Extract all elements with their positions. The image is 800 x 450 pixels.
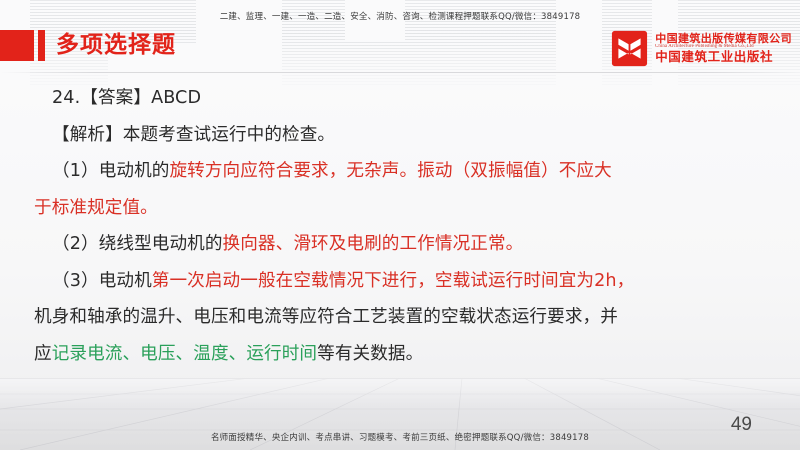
publisher-press-cn: 中国建筑工业出版社 <box>655 50 792 63</box>
answer-value: ABCD <box>151 88 201 108</box>
publisher-logo: 中国建筑出版传媒有限公司 China Architecture Publishi… <box>611 28 792 68</box>
item-3-line-2: 机身和轴承的温升、电压和电流等应符合工艺装置的空载状态运行要求，并 <box>18 299 786 336</box>
item-3-text-lead3: 应 <box>34 344 52 364</box>
item-3-green-highlight: 记录电流、电压、温度、运行时间 <box>52 344 317 364</box>
item-1-lead: 电动机的 <box>99 161 170 181</box>
analysis-line: 【解析】本题考查试运行中的检查。 <box>18 117 786 154</box>
publisher-company-cn: 中国建筑出版传媒有限公司 <box>655 33 792 45</box>
header-divider <box>0 72 800 73</box>
item-2-highlight: 换向器、滑环及电刷的工作情况正常。 <box>223 234 524 254</box>
item-3-text-cont: 机身和轴承的温升、电压和电流等应符合工艺装置的空载状态运行要求，并 <box>34 307 618 327</box>
title-red-bar-icon <box>38 30 45 61</box>
publisher-company-en: China Architecture Publishing & Media Co… <box>655 44 789 49</box>
page-number: 49 <box>731 414 752 436</box>
answer-label: 【答案】 <box>80 88 151 108</box>
analysis-label: 【解析】 <box>52 125 123 145</box>
footer-contact-line: 名师面授精华、央企内训、考点串讲、习题模考、考前三页纸、绝密押题联系QQ/微信：… <box>0 431 800 443</box>
top-contact-line: 二建、监理、一建、一造、二造、安全、消防、咨询、检测课程押题联系QQ/微信：38… <box>0 10 800 22</box>
analysis-text: 本题考查试运行中的检查。 <box>123 125 335 145</box>
item-3-text-tail3: 等有关数据。 <box>317 344 423 364</box>
publisher-logo-icon <box>611 30 648 67</box>
item-2-line-1: （2）绕线型电动机的换向器、滑环及电刷的工作情况正常。 <box>18 226 786 263</box>
item-3-line-1: （3）电动机第一次启动一般在空载情况下进行，空载试运行时间宜为2h， <box>18 263 786 300</box>
answer-number: 24. <box>52 88 80 108</box>
section-title-group: 多项选择题 <box>0 28 176 62</box>
page-title: 多项选择题 <box>56 34 176 57</box>
item-3-highlight: 第一次启动一般在空载情况下进行，空载试运行时间宜为2h， <box>152 271 635 291</box>
publisher-logo-text: 中国建筑出版传媒有限公司 China Architecture Publishi… <box>655 33 792 64</box>
item-3-marker: （3） <box>52 271 99 291</box>
item-1-marker: （1） <box>52 161 99 181</box>
item-2-marker: （2） <box>52 234 99 254</box>
item-2-lead: 绕线型电动机的 <box>99 234 223 254</box>
item-1-highlight-cont: 于标准规定值。 <box>34 198 158 218</box>
item-1-highlight: 旋转方向应符合要求，无杂声。振动（双振幅值）不应大 <box>169 161 611 181</box>
item-1-line-1: （1）电动机的旋转方向应符合要求，无杂声。振动（双振幅值）不应大 <box>18 153 786 190</box>
item-3-lead: 电动机 <box>99 271 152 291</box>
title-red-block-icon <box>0 30 34 61</box>
item-1-line-2: 于标准规定值。 <box>18 190 786 227</box>
slide-canvas: 二建、监理、一建、一造、二造、安全、消防、咨询、检测课程押题联系QQ/微信：38… <box>0 0 800 450</box>
item-3-line-3: 应记录电流、电压、温度、运行时间等有关数据。 <box>18 336 786 373</box>
slide-body: 24.【答案】ABCD 【解析】本题考查试运行中的检查。 （1）电动机的旋转方向… <box>18 80 786 372</box>
answer-line: 24.【答案】ABCD <box>18 80 786 117</box>
